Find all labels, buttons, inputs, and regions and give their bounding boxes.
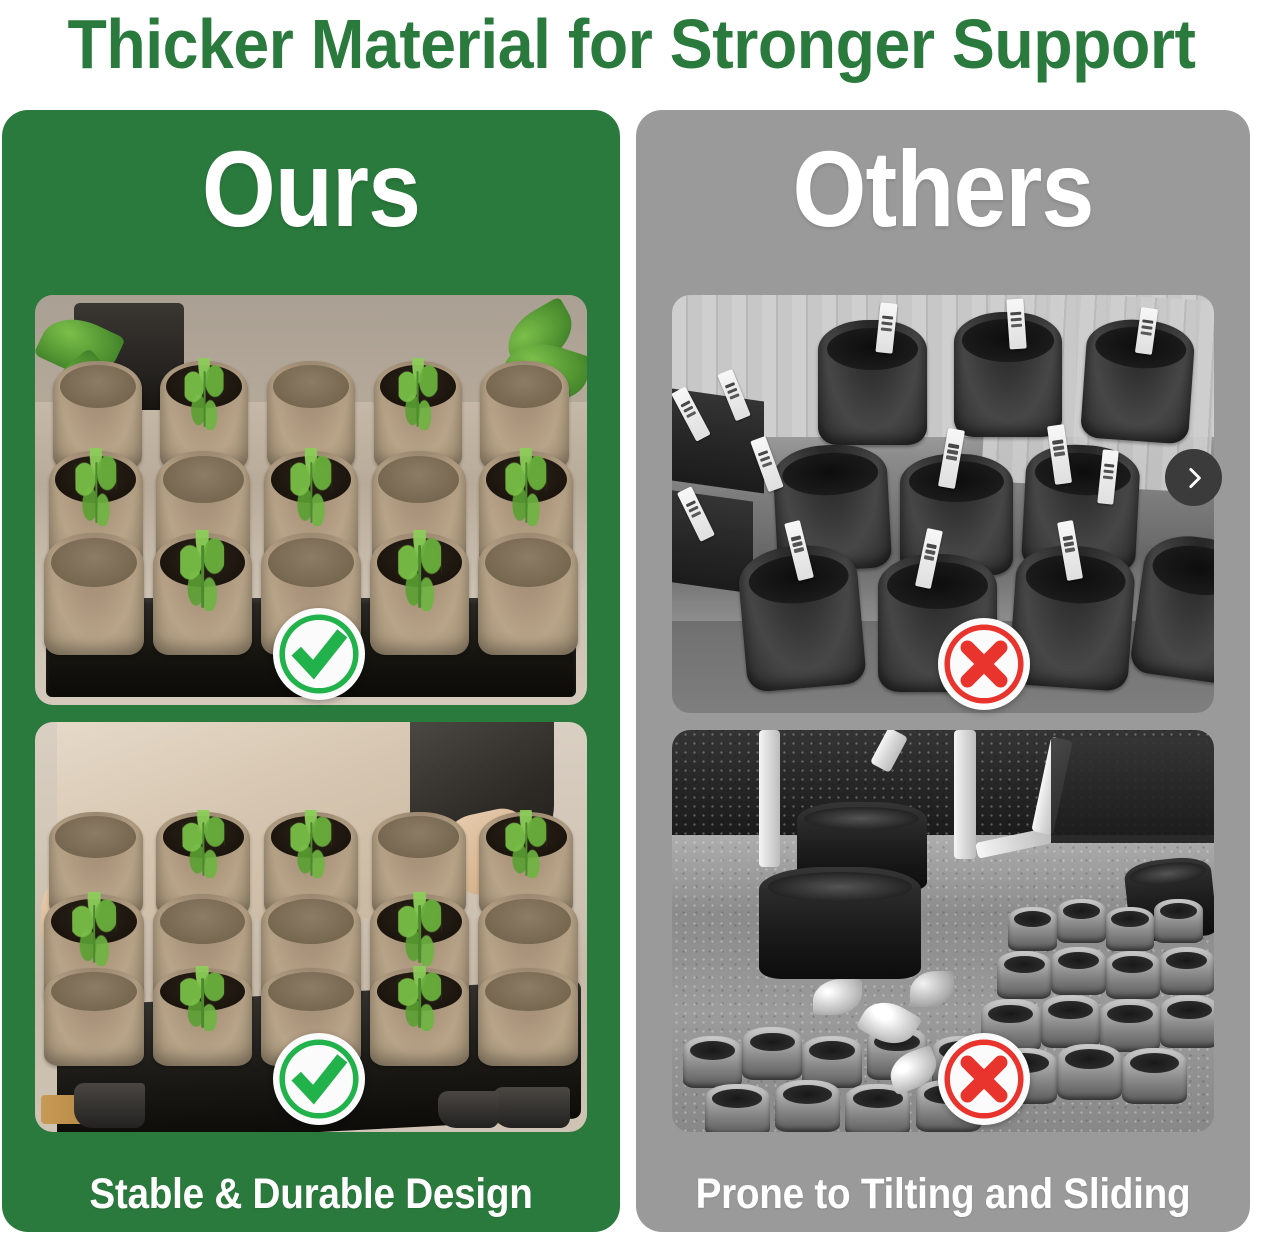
status-badge-check-2	[273, 1033, 365, 1125]
comparison-infographic: Thicker Material for Stronger Support Ou…	[0, 0, 1263, 1248]
status-badge-check-1	[273, 608, 365, 700]
chevron-right-icon	[1181, 465, 1207, 491]
next-image-button[interactable]	[1165, 449, 1222, 506]
panel-ours-title: Ours	[39, 132, 583, 245]
panel-others: Others	[636, 110, 1250, 1232]
status-badge-cross-1	[938, 618, 1030, 710]
panel-ours: Ours	[2, 110, 620, 1232]
panel-others-caption: Prone to Tilting and Sliding	[667, 1171, 1220, 1218]
panel-ours-caption: Stable & Durable Design	[33, 1171, 589, 1218]
panel-others-title: Others	[673, 132, 1213, 245]
page-title: Thicker Material for Stronger Support	[51, 0, 1213, 90]
status-badge-cross-2	[938, 1033, 1030, 1125]
